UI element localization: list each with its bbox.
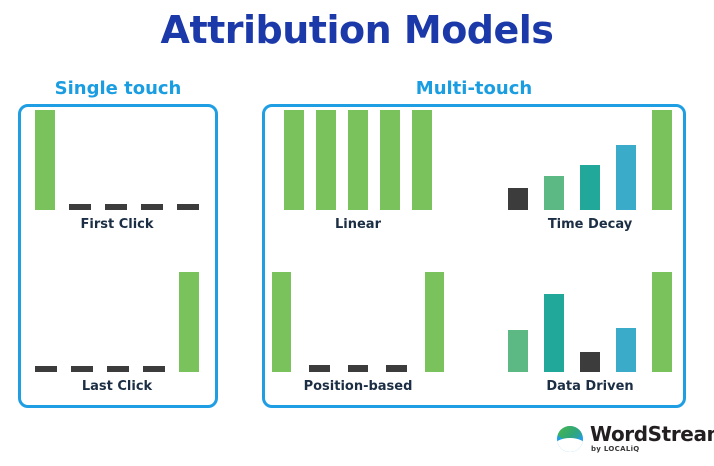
chart-plot-area — [500, 272, 680, 372]
bar — [544, 176, 564, 210]
section-heading-single-touch: Single touch — [18, 78, 218, 99]
chart-label: Last Click — [22, 379, 212, 394]
bar — [177, 204, 199, 210]
chart-label: Time Decay — [500, 217, 680, 232]
bar — [616, 145, 636, 210]
wordstream-logo: WordStream by LOCALiQ — [557, 424, 714, 453]
wave-shape-secondary-icon — [557, 444, 583, 452]
bar — [580, 352, 600, 372]
bar — [105, 204, 127, 210]
bar — [316, 110, 336, 210]
bar — [69, 204, 91, 210]
chart-data-driven: Data Driven — [500, 272, 680, 394]
bar — [284, 110, 304, 210]
bar — [544, 294, 564, 372]
logo-text: WordStream by LOCALiQ — [590, 424, 714, 453]
bar — [616, 328, 636, 372]
chart-label: First Click — [22, 217, 212, 232]
chart-time-decay: Time Decay — [500, 110, 680, 232]
chart-linear: Linear — [272, 140, 444, 232]
bar — [386, 365, 407, 372]
bar — [580, 165, 600, 210]
bar — [272, 272, 291, 372]
logo-byline: by LOCALiQ — [591, 446, 714, 453]
bar — [348, 110, 368, 210]
bar — [652, 110, 672, 210]
chart-label: Linear — [272, 217, 444, 232]
bar — [380, 110, 400, 210]
bar — [652, 272, 672, 372]
chart-last-click: Last Click — [22, 272, 212, 394]
bar — [309, 365, 330, 372]
wordstream-logo-icon — [557, 426, 583, 452]
chart-label: Position-based — [272, 379, 444, 394]
section-heading-multi-touch: Multi-touch — [262, 78, 686, 99]
bar — [35, 110, 55, 210]
bar — [141, 204, 163, 210]
bar — [425, 272, 444, 372]
bar — [71, 366, 93, 372]
page-title: Attribution Models — [0, 8, 714, 52]
chart-label: Data Driven — [500, 379, 680, 394]
bar — [179, 272, 199, 372]
chart-plot-area — [22, 110, 212, 210]
bar — [35, 366, 57, 372]
bar — [508, 188, 528, 210]
bar — [143, 366, 165, 372]
chart-position-based: Position-based — [272, 272, 444, 394]
bar — [107, 366, 129, 372]
bar — [348, 365, 369, 372]
chart-plot-area — [500, 110, 680, 210]
logo-wordmark: WordStream — [590, 424, 714, 444]
bar — [508, 330, 528, 372]
chart-plot-area — [272, 272, 444, 372]
bar — [412, 110, 432, 210]
chart-plot-area — [22, 272, 212, 372]
chart-first-click: First Click — [22, 110, 212, 232]
chart-plot-area — [272, 110, 444, 210]
